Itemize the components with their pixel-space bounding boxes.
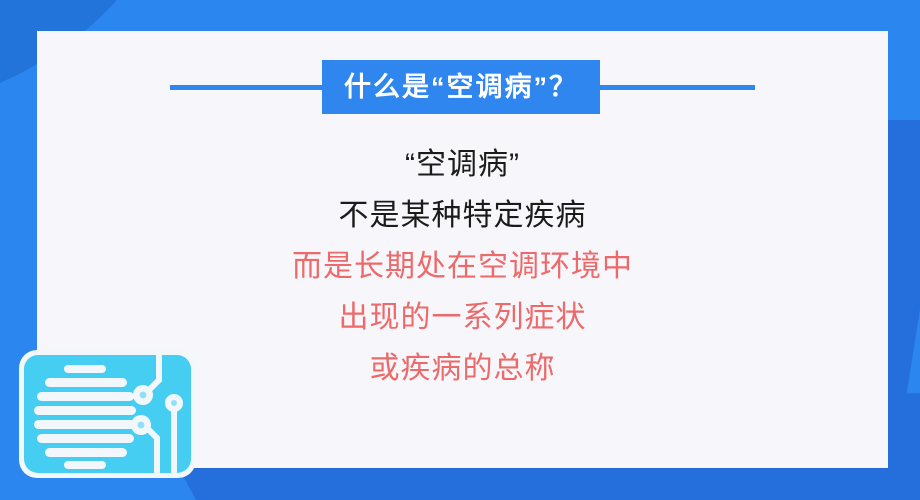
- body-line-2: 不是某种特定疾病: [37, 190, 888, 241]
- circuit-card-icon: [17, 348, 198, 480]
- body-line-1: “空调病”: [37, 139, 888, 190]
- body-line-4: 出现的一系列症状: [37, 292, 888, 343]
- title-rule-right: [600, 85, 755, 90]
- title-row: 什么是“空调病”？: [37, 60, 888, 114]
- page-title: 什么是“空调病”？: [344, 74, 578, 101]
- slide-canvas: 什么是“空调病”？ “空调病” 不是某种特定疾病 而是长期处在空调环境中 出现的…: [0, 0, 920, 500]
- title-banner: 什么是“空调病”？: [322, 60, 600, 114]
- title-rule-left: [170, 85, 322, 90]
- body-line-3: 而是长期处在空调环境中: [37, 241, 888, 292]
